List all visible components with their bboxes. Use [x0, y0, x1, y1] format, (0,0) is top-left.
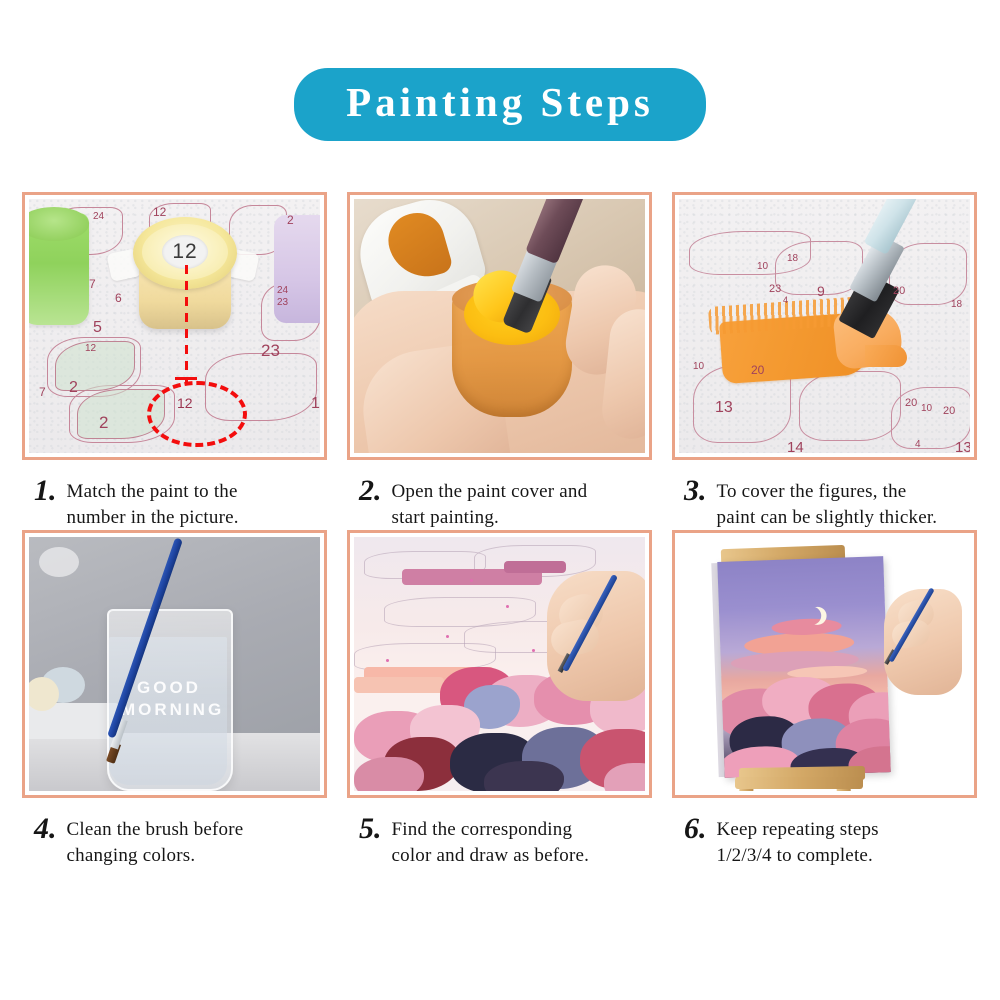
step-text-line-1: To cover the figures, the: [717, 479, 938, 505]
canvas-number: 20: [943, 405, 955, 417]
painting-steps-infographic: Painting Steps: [0, 0, 1000, 1000]
canvas-number: 23: [769, 283, 781, 295]
step-2-image-frame: [347, 192, 652, 460]
glass-text-line-2: MORNING: [121, 700, 224, 719]
step-card-5: 5. Find the corresponding color and draw…: [347, 530, 652, 868]
canvas-number: 10: [693, 361, 704, 372]
step-text-line-1: Open the paint cover and: [392, 479, 588, 505]
flower-blob: [484, 761, 564, 791]
canvas-number: 23: [277, 297, 288, 308]
step-3-photo: 10 18 23 4 9 20 18 10 20 13 14 20 10 20 …: [679, 199, 970, 453]
canvas-number-label: 12: [177, 395, 193, 411]
canvas-number: 13: [955, 439, 970, 453]
step-4-photo: GOOD MORNING: [29, 537, 320, 791]
step-number: 4.: [34, 812, 57, 844]
step-card-2: 2. Open the paint cover and start painti…: [347, 192, 652, 530]
canvas-number: 20: [751, 363, 764, 377]
step-number: 3.: [684, 474, 707, 506]
step-text-line-2: number in the picture.: [67, 505, 239, 531]
title-banner: Painting Steps: [294, 68, 706, 141]
step-card-6: 6. Keep repeating steps 1/2/3/4 to compl…: [672, 530, 977, 868]
step-text-line-2: paint can be slightly thicker.: [717, 505, 938, 531]
canvas-number: 12: [85, 343, 96, 354]
step-5-image-frame: [347, 530, 652, 798]
step-text-line-2: 1/2/3/4 to complete.: [717, 843, 879, 869]
step-text: Open the paint cover and start painting.: [392, 474, 588, 530]
canvas-number: 4: [915, 439, 921, 450]
pot-number-label: 12: [162, 235, 208, 269]
dashed-pointer-line: [185, 265, 188, 385]
canvas-number: 12: [311, 395, 320, 413]
canvas-number: 20: [905, 397, 917, 409]
step-text: Clean the brush before changing colors.: [67, 812, 244, 868]
step-5-caption: 5. Find the corresponding color and draw…: [347, 812, 652, 868]
step-1-caption: 1. Match the paint to the number in the …: [22, 474, 327, 530]
step-2-caption: 2. Open the paint cover and start painti…: [347, 474, 652, 530]
canvas-number: 14: [787, 439, 804, 453]
step-card-4: GOOD MORNING 4. Clean the brush before c…: [22, 530, 327, 868]
step-5-photo: [354, 537, 645, 791]
step-text: Keep repeating steps 1/2/3/4 to complete…: [717, 812, 879, 868]
step-1-photo: 12 12 12 24 2 7 6 5 12 2 7 2 23 24: [29, 199, 320, 453]
canvas-number: 4: [783, 295, 788, 305]
step-6-photo: [679, 537, 970, 791]
step-4-image-frame: GOOD MORNING: [22, 530, 327, 798]
step-3-caption: 3. To cover the figures, the paint can b…: [672, 474, 977, 530]
canvas-number: 24: [277, 285, 288, 296]
step-number: 1.: [34, 474, 57, 506]
paint-drip: [865, 345, 907, 367]
page-title: Painting Steps: [346, 82, 654, 123]
step-1-image-frame: 12 12 12 24 2 7 6 5 12 2 7 2 23 24: [22, 192, 327, 460]
step-number: 6.: [684, 812, 707, 844]
step-text: To cover the figures, the paint can be s…: [717, 474, 938, 530]
canvas-number: 2: [99, 413, 108, 433]
step-number: 2.: [359, 474, 382, 506]
canvas-outline-shape: [799, 371, 901, 441]
step-text-line-2: start painting.: [392, 505, 588, 531]
step-text-line-1: Keep repeating steps: [717, 817, 879, 843]
painted-band: [504, 561, 566, 573]
canvas-number: 7: [89, 277, 96, 291]
canvas-number: 18: [787, 253, 798, 264]
flower-blob: [354, 757, 424, 791]
easel-shelf: [735, 777, 863, 789]
step-2-photo: [354, 199, 645, 453]
step-text: Match the paint to the number in the pic…: [67, 474, 239, 530]
canvas-number: 13: [715, 399, 733, 417]
step-text-line-1: Clean the brush before: [67, 817, 244, 843]
canvas-number: 5: [93, 319, 102, 337]
glass-printed-text: GOOD MORNING: [121, 677, 217, 720]
step-text-line-2: color and draw as before.: [392, 843, 590, 869]
step-3-image-frame: 10 18 23 4 9 20 18 10 20 13 14 20 10 20 …: [672, 192, 977, 460]
canvas-number: 10: [757, 261, 768, 272]
canvas-number: 6: [115, 291, 122, 305]
canvas-number: 18: [951, 299, 962, 310]
step-card-3: 10 18 23 4 9 20 18 10 20 13 14 20 10 20 …: [672, 192, 977, 530]
step-4-caption: 4. Clean the brush before changing color…: [22, 812, 327, 868]
crosshair-marker: [175, 377, 197, 380]
steps-grid: 12 12 12 24 2 7 6 5 12 2 7 2 23 24: [22, 192, 978, 869]
canvas-number: 2: [287, 213, 294, 227]
step-text-line-2: changing colors.: [67, 843, 244, 869]
step-6-caption: 6. Keep repeating steps 1/2/3/4 to compl…: [672, 812, 977, 868]
step-text-line-1: Match the paint to the: [67, 479, 239, 505]
step-6-image-frame: [672, 530, 977, 798]
canvas-number: 23: [261, 341, 280, 361]
step-text-line-1: Find the corresponding: [392, 817, 590, 843]
title-section: Painting Steps: [0, 0, 1000, 141]
canvas-number: 20: [893, 285, 905, 297]
step-number: 5.: [359, 812, 382, 844]
canvas-number: 7: [39, 385, 46, 399]
canvas-number: 10: [921, 403, 932, 414]
canvas-number: 12: [153, 205, 166, 219]
step-text: Find the corresponding color and draw as…: [392, 812, 590, 868]
canvas-number: 2: [69, 379, 78, 397]
dashed-highlight-ellipse: [147, 381, 247, 447]
step-card-1: 12 12 12 24 2 7 6 5 12 2 7 2 23 24: [22, 192, 327, 530]
canvas-number: 24: [93, 211, 104, 222]
canvas-number: 9: [817, 283, 825, 299]
glass-text-line-1: GOOD: [137, 678, 201, 697]
finished-painting-canvas: [717, 556, 890, 778]
